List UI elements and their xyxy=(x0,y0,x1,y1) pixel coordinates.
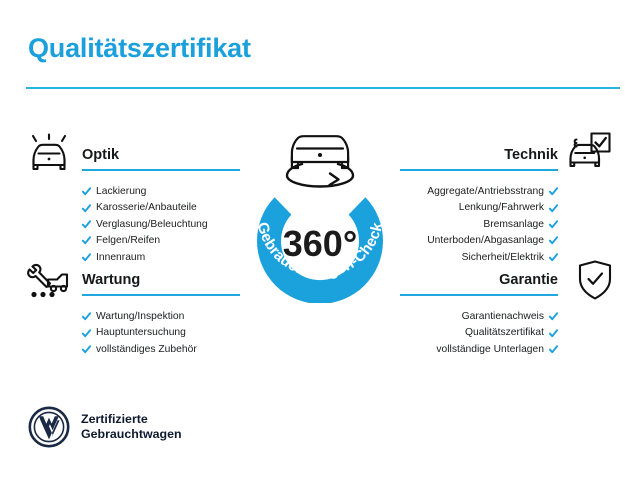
wrench-car-icon xyxy=(26,261,72,305)
list-item-label: Karosserie/Anbauteile xyxy=(96,200,197,216)
certificate-page: Qualitätszertifikat xyxy=(0,0,640,480)
page-title: Qualitätszertifikat xyxy=(28,33,251,64)
list-item: Garantienachweis xyxy=(400,309,558,325)
list-item-label: Sicherheit/Elektrik xyxy=(462,250,544,266)
title-divider xyxy=(26,87,620,89)
list-item: Wartung/Inspektion xyxy=(82,309,240,325)
list-item: Qualitätszertifikat xyxy=(400,325,558,341)
section-header-optik: Optik xyxy=(82,146,240,176)
list-item-label: vollständiges Zubehör xyxy=(96,342,197,358)
list-item: vollständige Unterlagen xyxy=(400,342,558,358)
footer-brand-text: Zertifizierte Gebrauchtwagen xyxy=(81,412,182,443)
checklist-optik: Lackierung Karosserie/Anbauteile Verglas… xyxy=(82,184,240,266)
check-icon xyxy=(82,204,91,214)
list-item: Karosserie/Anbauteile xyxy=(82,200,240,216)
section-title-optik: Optik xyxy=(82,146,240,164)
check-icon xyxy=(82,236,91,246)
check-icon xyxy=(549,204,558,214)
list-item: Felgen/Reifen xyxy=(82,233,240,249)
check-icon xyxy=(82,345,91,355)
footer-brand: Zertifizierte Gebrauchtwagen xyxy=(28,406,182,448)
list-item: Verglasung/Beleuchtung xyxy=(82,217,240,233)
section-garantie: Garantie Garantienachweis Qualitätszerti… xyxy=(400,271,558,358)
section-technik: Technik Aggregate/Antriebsstrang Lenkung… xyxy=(400,146,558,266)
list-item: Innenraum xyxy=(82,250,240,266)
check-icon xyxy=(82,187,91,197)
list-item: vollständiges Zubehör xyxy=(82,342,240,358)
section-wartung: Wartung Wartung/Inspektion Hauptuntersuc… xyxy=(82,271,240,358)
list-item: Lackierung xyxy=(82,184,240,200)
list-item: Lenkung/Fahrwerk xyxy=(400,200,558,216)
check-icon xyxy=(549,253,558,263)
footer-line-2: Gebrauchtwagen xyxy=(81,427,182,443)
check-icon xyxy=(82,253,91,263)
check-icon xyxy=(549,236,558,246)
list-item-label: Lackierung xyxy=(96,184,146,200)
check-icon xyxy=(549,312,558,322)
check-icon xyxy=(549,187,558,197)
list-item-label: Felgen/Reifen xyxy=(96,233,160,249)
car-shine-icon xyxy=(26,133,72,177)
section-title-garantie: Garantie xyxy=(400,271,558,289)
section-header-wartung: Wartung xyxy=(82,271,240,301)
check-icon xyxy=(82,220,91,230)
check-icon xyxy=(82,329,91,339)
check-icon xyxy=(549,345,558,355)
list-item: Aggregate/Antriebsstrang xyxy=(400,184,558,200)
section-divider-wartung xyxy=(82,294,240,296)
footer-line-1: Zertifizierte xyxy=(81,412,182,428)
section-optik: Optik Lackierung Karosserie/Anbauteile V… xyxy=(82,146,240,266)
section-title-wartung: Wartung xyxy=(82,271,240,289)
list-item-label: Bremsanlage xyxy=(483,217,544,233)
list-item-label: Verglasung/Beleuchtung xyxy=(96,217,208,233)
check-icon xyxy=(549,329,558,339)
car-rotate-icon xyxy=(287,136,353,186)
list-item-label: Hauptuntersuchung xyxy=(96,325,186,341)
checklist-garantie: Garantienachweis Qualitätszertifikat vol… xyxy=(400,309,558,358)
list-item-label: Innenraum xyxy=(96,250,145,266)
section-header-garantie: Garantie xyxy=(400,271,558,301)
list-item-label: Wartung/Inspektion xyxy=(96,309,184,325)
list-item-label: Unterboden/Abgasanlage xyxy=(427,233,544,249)
section-header-technik: Technik xyxy=(400,146,558,176)
check-icon xyxy=(82,312,91,322)
list-item: Hauptuntersuchung xyxy=(82,325,240,341)
list-item: Bremsanlage xyxy=(400,217,558,233)
checklist-wartung: Wartung/Inspektion Hauptuntersuchung vol… xyxy=(82,309,240,358)
section-divider-garantie xyxy=(400,294,558,296)
list-item-label: Qualitätszertifikat xyxy=(465,325,544,341)
list-item-label: Garantienachweis xyxy=(462,309,544,325)
list-item-label: Lenkung/Fahrwerk xyxy=(459,200,544,216)
section-divider-optik xyxy=(82,169,240,171)
list-item-label: Aggregate/Antriebsstrang xyxy=(427,184,544,200)
section-divider-technik xyxy=(400,169,558,171)
list-item: Sicherheit/Elektrik xyxy=(400,250,558,266)
checklist-technik: Aggregate/Antriebsstrang Lenkung/Fahrwer… xyxy=(400,184,558,266)
list-item-label: vollständige Unterlagen xyxy=(436,342,544,358)
check-icon xyxy=(549,220,558,230)
vw-logo xyxy=(28,406,70,448)
badge-360-gebrauchtwagen-check: 360° Gebrauchtwagen-Check xyxy=(234,118,406,303)
list-item: Unterboden/Abgasanlage xyxy=(400,233,558,249)
car-checkbox-icon xyxy=(566,131,612,175)
shield-check-icon xyxy=(572,258,618,302)
section-title-technik: Technik xyxy=(400,146,558,164)
